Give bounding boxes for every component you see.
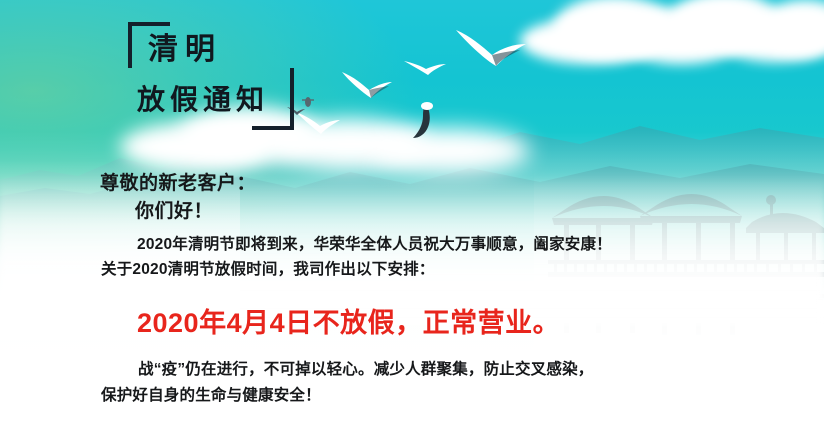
holiday-headline: 2020年4月4日不放假，正常营业。 [137,301,560,340]
qingming-holiday-poster: 清明 放假通知 尊敬的新老客户： 你们好！ 2020年清明节即将到来，华荣华全体… [0,0,824,438]
paragraph-greeting: 2020年清明节即将到来，华荣华全体人员祝大万事顺意，阖家安康！ [137,232,612,254]
salutation-line2: 你们好！ [135,196,213,223]
paragraph-arrangement-intro: 关于2020清明节放假时间，我司作出以下安排： [101,257,435,279]
notice-body: 尊敬的新老客户： 你们好！ 2020年清明节即将到来，华荣华全体人员祝大万事顺意… [0,0,824,438]
paragraph-epidemic-line1: 战“疫”仍在进行，不可掉以轻心。减少人群聚集，防止交叉感染， [138,357,594,379]
paragraph-epidemic-line2: 保护好自身的生命与健康安全！ [101,383,321,405]
salutation-line1: 尊敬的新老客户： [100,168,256,195]
